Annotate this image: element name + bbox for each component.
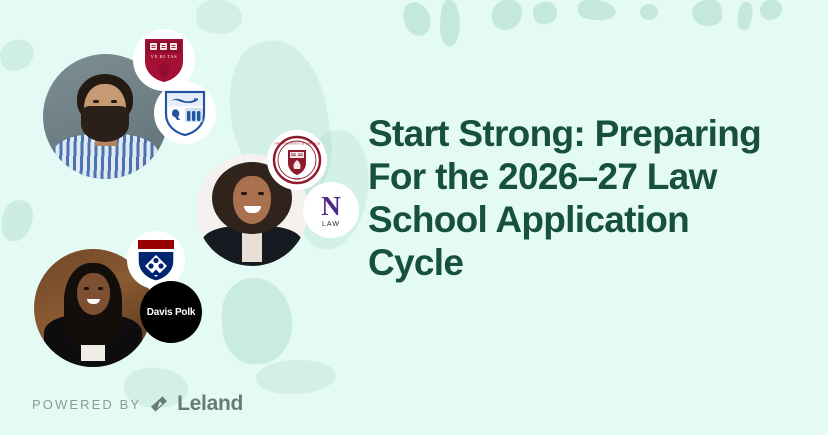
powered-by-label: POWERED BY: [32, 397, 141, 412]
powered-by-leland: POWERED BY Leland: [32, 392, 243, 416]
ucl-logo-icon: [154, 82, 216, 144]
leland-wordmark: Leland: [177, 392, 243, 416]
northwestern-n-glyph: N: [321, 193, 341, 220]
davis-polk-wordmark: Davis Polk: [147, 307, 196, 318]
banner-headline: Start Strong: Preparing For the 2026–27 …: [368, 112, 788, 284]
university-of-chicago-logo-icon: THE UNIVERSITY OF CHICAGO 1890: [267, 130, 327, 190]
davis-polk-logo-icon: Davis Polk: [140, 281, 202, 343]
upenn-logo-icon: [127, 231, 185, 289]
northwestern-law-label: LAW: [321, 221, 341, 228]
northwestern-law-logo-icon: N LAW: [303, 182, 359, 238]
leland-diamond-icon: [150, 395, 168, 413]
svg-text:VE RI TAS: VE RI TAS: [151, 54, 178, 59]
svg-text:1890: 1890: [294, 177, 301, 181]
svg-text:THE UNIVERSITY OF CHICAGO: THE UNIVERSITY OF CHICAGO: [274, 142, 321, 146]
coach-logo-collage: VE RI TAS: [0, 0, 360, 390]
webinar-promo-banner: VE RI TAS: [0, 0, 828, 435]
